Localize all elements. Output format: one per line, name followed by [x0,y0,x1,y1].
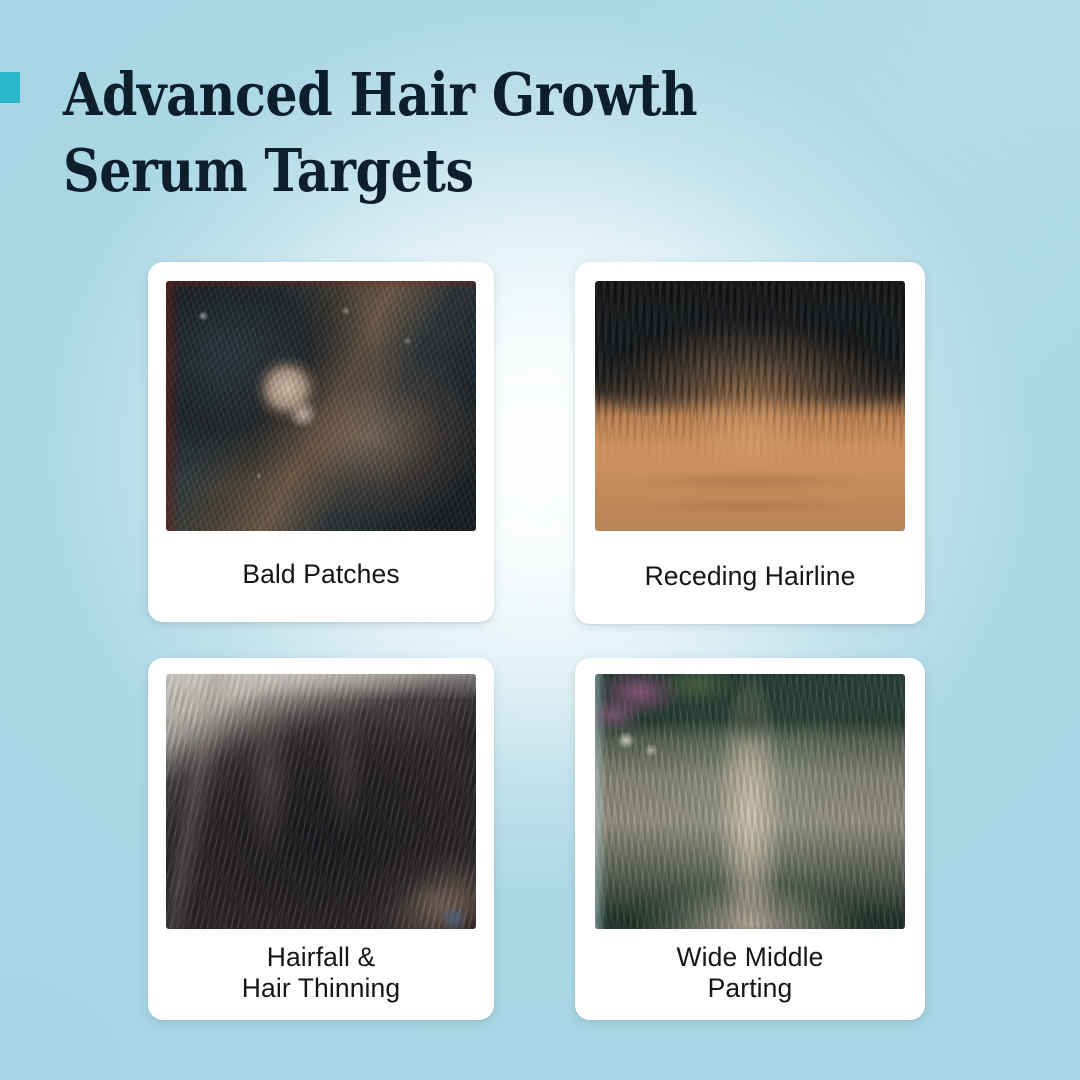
wide-middle-parting-photo [595,674,905,929]
page-title-line-2: Serum Targets [63,133,682,209]
bald-patch-crown-photo [166,281,476,531]
card-caption: Hairfall & Hair Thinning [148,942,494,1004]
receding-hairline-photo [595,281,905,531]
card-caption-line: Hair Thinning [148,973,494,1004]
hairfall-thinning-photo [166,674,476,929]
target-card-wide-middle-parting[interactable]: Wide Middle Parting [575,658,925,1020]
card-caption: Receding Hairline [575,561,925,592]
card-caption-line: Wide Middle [575,942,925,973]
target-card-hairfall-thinning[interactable]: Hairfall & Hair Thinning [148,658,494,1020]
page-title-line-1: Advanced Hair Growth [63,57,682,133]
card-caption-line: Receding Hairline [575,561,925,592]
page-title: Advanced Hair Growth Serum Targets [63,57,682,209]
target-card-bald-patches[interactable]: Bald Patches [148,262,494,622]
card-caption-line: Hairfall & [148,942,494,973]
card-caption-line: Parting [575,973,925,1004]
square-accent-icon [0,72,20,103]
card-caption: Bald Patches [148,559,494,590]
target-card-receding-hairline[interactable]: Receding Hairline [575,262,925,624]
card-caption-line: Bald Patches [148,559,494,590]
card-caption: Wide Middle Parting [575,942,925,1004]
